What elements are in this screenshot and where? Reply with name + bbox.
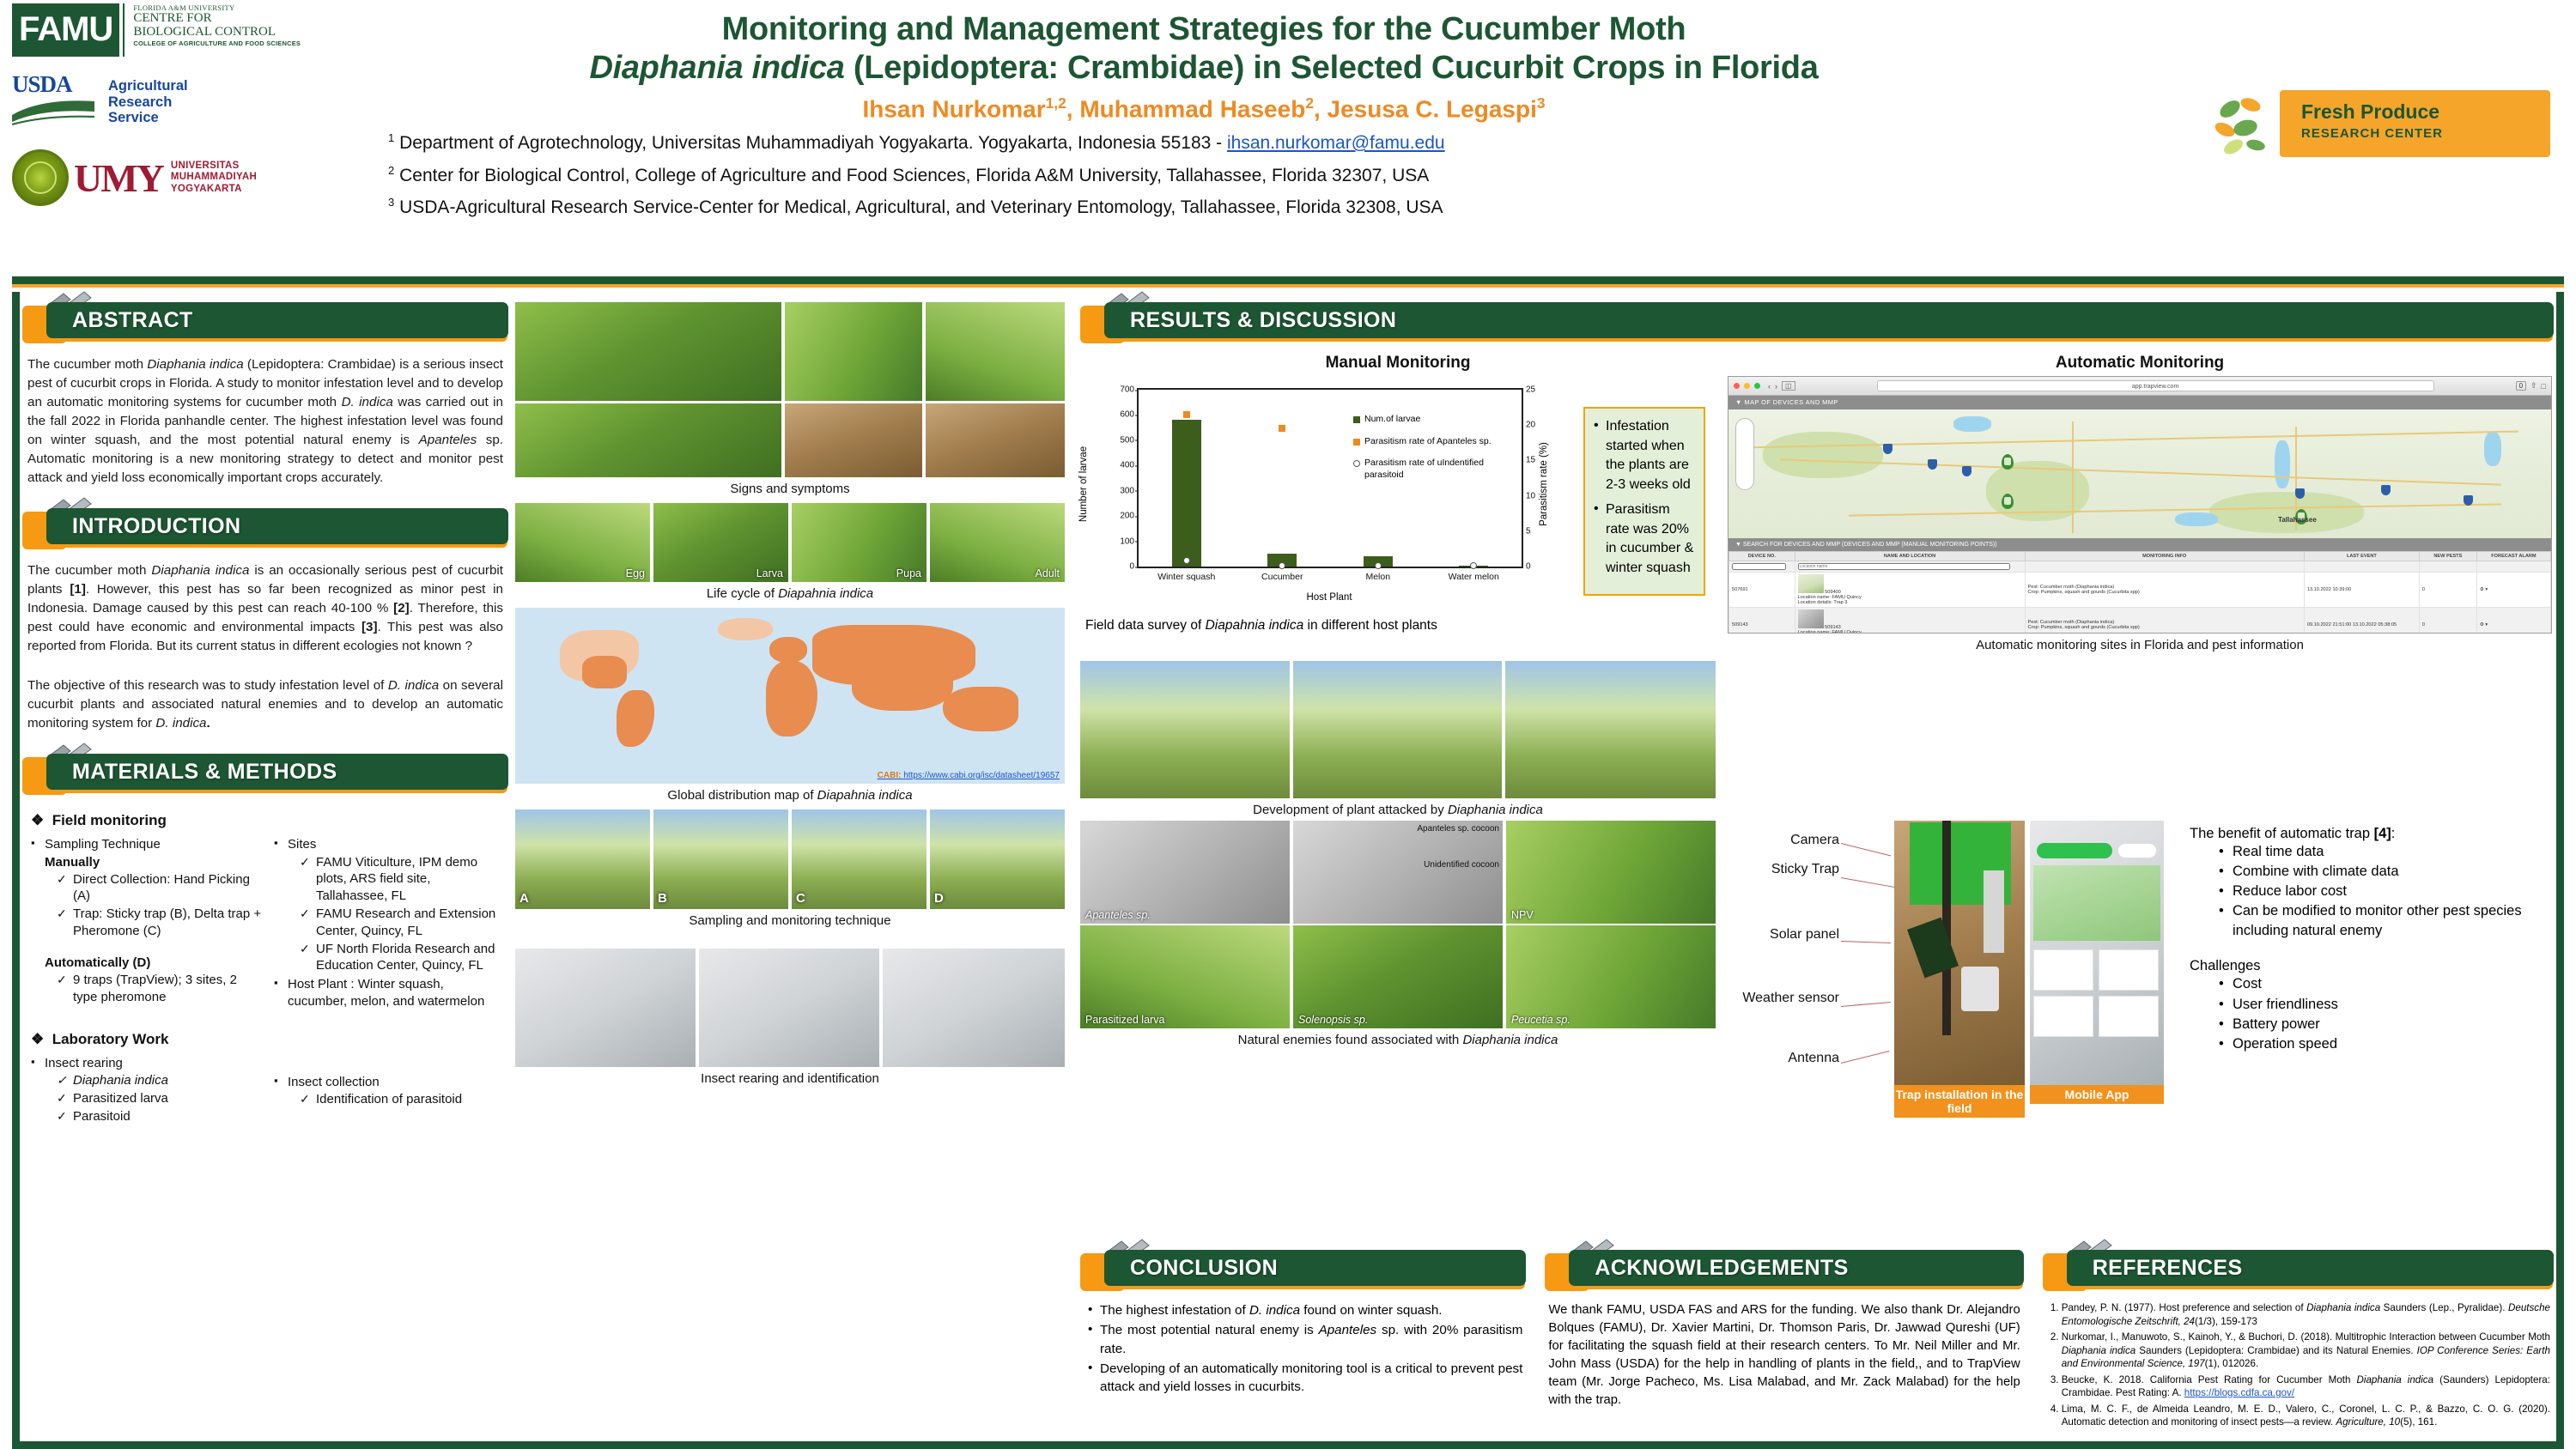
- photo-plant-damage-1: [515, 302, 781, 401]
- reference-3: Beucke, K. 2018. California Pest Rating …: [2062, 1373, 2550, 1400]
- map-section-label: MAP OF DEVICES AND MMP: [1744, 398, 1838, 406]
- reference-2: Nurkomar, I., Manuwoto, S., Kainoh, Y., …: [2062, 1331, 2550, 1371]
- famu-centre-line2: BIOLOGICAL CONTROL: [133, 26, 301, 39]
- y2tick-15: 15: [1522, 456, 1535, 465]
- map-pin-trap-1[interactable]: [2002, 454, 2014, 470]
- y2tick-25: 25: [1522, 385, 1535, 395]
- ytick-700: 700: [1120, 385, 1139, 395]
- minimize-icon[interactable]: [1744, 383, 1750, 389]
- abstract-bar: ABSTRACT: [46, 302, 508, 338]
- c1a: The most potential natural enemy is: [1100, 1323, 1319, 1337]
- signs-symptoms-photos-2: [515, 403, 1065, 477]
- device-thumbnail[interactable]: [1798, 609, 1824, 628]
- r1a: Pandey, P. N. (1977). Host preference an…: [2062, 1302, 2306, 1313]
- title-line-1: Monitoring and Management Strategies for…: [722, 11, 1686, 47]
- ytick-100: 100: [1120, 537, 1139, 546]
- challenge-0-label: Cost: [2233, 976, 2262, 991]
- photo-plant-damage-2: [785, 302, 922, 401]
- marker-unidentified-winter-squash: [1183, 557, 1190, 564]
- conclusion-body: The highest infestation of D. indica fou…: [1080, 1296, 1526, 1396]
- map-section-header: ▼ MAP OF DEVICES AND MMP: [1728, 396, 2551, 409]
- note-item-1: Parasitism rate was 20% in cucumber & wi…: [1592, 500, 1697, 579]
- c0b: found on winter squash.: [1300, 1303, 1442, 1318]
- benefits-title-a: The benefit of automatic trap: [2190, 826, 2374, 841]
- trap-label-antenna: Antenna: [1729, 1051, 1839, 1067]
- usda-mark: USDA: [12, 73, 98, 131]
- usda-abbr: USDA: [12, 73, 98, 96]
- acknowledgements-title: ACKNOWLEDGEMENTS: [1569, 1250, 2023, 1286]
- manual-item-0: Direct Collection: Hand Picking (A): [57, 871, 262, 906]
- cell-settings[interactable]: ⚙ ▾: [2476, 608, 2550, 634]
- intro2-t1: The objective of this research was to st…: [27, 678, 388, 693]
- intro2-t3: .: [207, 716, 210, 731]
- cell-crop: Crop: Pumpkins, squash and gourds (Cucur…: [2028, 590, 2140, 595]
- sampling-photos: A B C D: [515, 809, 1065, 909]
- abstract-sp2: D. indica: [342, 395, 393, 409]
- label-solenopsis: Solenopsis sp.: [1298, 1014, 1368, 1026]
- location-filter-input[interactable]: [1798, 563, 2011, 570]
- legend-swatch-unidentified: [1353, 460, 1360, 467]
- legend-label-larvae: Num.of larvae: [1364, 414, 1420, 426]
- map-source-prefix: CABI:: [878, 771, 904, 780]
- label-egg: Egg: [626, 567, 645, 579]
- cell-loc-det: Location details: Trap 3: [1798, 600, 1848, 605]
- umy-logo: UMY UNIVERSITAS MUHAMMADIYAH YOGYAKARTA: [12, 146, 373, 209]
- sampling-technique-item: Sampling Technique Manually Direct Colle…: [31, 836, 262, 1005]
- cell-last-event: 09.10.2022 21:51:00 13.10.2022 05:38:05: [2304, 608, 2419, 634]
- xlabel-winter-squash: Winter squash: [1157, 572, 1215, 582]
- xlabel-water-melon: Water melon: [1449, 572, 1499, 582]
- downloads-icon[interactable]: 0: [2516, 381, 2526, 391]
- introduction-section-header: INTRODUCTION: [22, 508, 508, 549]
- famu-wordmark: FLORIDA A&M UNIVERSITY CENTRE FOR BIOLOG…: [123, 3, 301, 57]
- rearing-photos: [515, 949, 1065, 1067]
- site-2: UF North Florida Research and Education …: [300, 941, 505, 975]
- usda-ars-l3: Service: [108, 110, 188, 125]
- photo-fruit-damage-2: [926, 403, 1065, 477]
- usda-ars-text: Agricultural Research Service: [108, 78, 188, 125]
- photo-identification-microscope: [883, 949, 1065, 1067]
- chart-legend: Num.of larvae Parasitism rate of Apantel…: [1353, 414, 1522, 492]
- legend-label-apanteles: Parasitism rate of Apanteles sp.: [1364, 436, 1492, 448]
- cell-settings[interactable]: ⚙ ▾: [2476, 573, 2550, 608]
- usda-ars-l1: Agricultural: [108, 78, 188, 94]
- sites-item: Sites FAMU Viticulture, IPM demo plots, …: [274, 836, 505, 974]
- umy-wordmark: UNIVERSITAS MUHAMMADIYAH YOGYAKARTA: [171, 161, 257, 195]
- famu-centre-line1: CENTRE FOR: [133, 12, 301, 26]
- host-plant-item: Host Plant : Winter squash, cucumber, me…: [274, 976, 505, 1010]
- th-monitoring-info: MONITORING INFO: [2025, 552, 2304, 561]
- challenges-title: Challenges: [2190, 958, 2550, 974]
- chart-y2-axis-title: Parasitism rate (%): [1539, 442, 1549, 526]
- photo-mobile-app: [2030, 821, 2164, 1085]
- usda-logo: USDA Agricultural Research Service: [12, 70, 373, 134]
- marker-apanteles-winter-squash: [1183, 411, 1190, 418]
- enemies-row-2: Parasitized larva Solenopsis sp. Peuceti…: [1080, 925, 1716, 1028]
- materials-col-left: Sampling Technique Manually Direct Colle…: [31, 836, 262, 1012]
- reference-1: Pandey, P. N. (1977). Host preference an…: [2062, 1301, 2550, 1328]
- leaf-cluster-icon: [2211, 92, 2280, 159]
- close-icon[interactable]: [1734, 383, 1740, 389]
- insect-collection-item: Insect collection Identification of para…: [274, 1074, 505, 1108]
- caption-enemies: Natural enemies found associated with Di…: [1080, 1028, 1716, 1054]
- back-icon[interactable]: ‹: [1768, 382, 1771, 391]
- tabs-icon[interactable]: □: [2542, 382, 2546, 391]
- references-title: REFERENCES: [2067, 1250, 2554, 1286]
- photo-leaf-damage: [515, 403, 781, 477]
- chart-y-axis-title: Number of larvae: [1078, 446, 1089, 522]
- laboratory-work-label: Laboratory Work: [52, 1031, 169, 1047]
- benefits-title: The benefit of automatic trap [4]:: [2190, 826, 2550, 842]
- benefit-3-label: Can be modified to monitor other pest sp…: [2233, 903, 2522, 938]
- forward-icon[interactable]: ›: [1775, 382, 1777, 391]
- benefit-1: •Combine with climate data: [2219, 862, 2550, 882]
- introduction-bar: INTRODUCTION: [46, 508, 508, 544]
- caption-dev-sp: Diaphania indica: [1448, 803, 1543, 817]
- challenge-3: •Operation speed: [2219, 1034, 2550, 1054]
- photo-auto-trap: D: [930, 809, 1065, 909]
- legend-entry-apanteles: Parasitism rate of Apanteles sp.: [1353, 436, 1522, 448]
- devices-table-body: 507691 509400 Location name: FAMU Quincy…: [1729, 573, 2551, 634]
- r1sp1: Diaphania indica: [2306, 1302, 2380, 1313]
- famu-logo: FAMU FLORIDA A&M UNIVERSITY CENTRE FOR B…: [12, 3, 373, 57]
- field-monitoring-heading: ❖ Field monitoring: [31, 812, 505, 829]
- c2a: Developing of an automatically monitorin…: [1100, 1361, 1522, 1394]
- acknowledgements-bar: ACKNOWLEDGEMENTS: [1569, 1250, 2023, 1286]
- devices-table: DEVICE NO. NAME AND LOCATION MONITORING …: [1728, 551, 2551, 634]
- chart-caption-sp: Diapahnia indica: [1206, 618, 1304, 633]
- umy-seal-icon: [12, 149, 69, 206]
- intro-ref3: [3]: [361, 620, 378, 634]
- header-divider-green: [12, 276, 2564, 284]
- famu-college-line: COLLEGE OF AGRICULTURE AND FOOD SCIENCES: [133, 39, 301, 47]
- label-apanteles: Apanteles sp.: [1085, 909, 1151, 921]
- challenge-1: •User friendliness: [2219, 995, 2550, 1015]
- conclusion-bar: CONCLUSION: [1104, 1250, 1526, 1286]
- famu-abbr: FAMU: [12, 3, 119, 57]
- results-section-header: RESULTS & DISCUSSION: [1080, 302, 2554, 343]
- natural-enemies-block: Apanteles sp. Apanteles sp. cocoon Unide…: [1080, 821, 1716, 1121]
- materials-title: MATERIALS & METHODS: [46, 754, 508, 790]
- legend-entry-larvae: Num.of larvae: [1353, 414, 1522, 426]
- share-icon[interactable]: ⇧: [2530, 381, 2537, 391]
- r2sp1: Diaphania indica: [2062, 1345, 2136, 1356]
- table-section-label: SEARCH FOR DEVICES AND MMP (DEVICES AND …: [1743, 542, 1997, 548]
- lab-col-left: Insect rearing Diaphania indica Parasiti…: [31, 1055, 262, 1126]
- tag-d: D: [934, 891, 944, 906]
- photo-solenopsis: Solenopsis sp.: [1293, 925, 1503, 1028]
- th-new-pests: NEW PESTS: [2419, 552, 2476, 561]
- ytick-200: 200: [1120, 512, 1139, 521]
- header-divider-orange: [12, 284, 2564, 288]
- r4a: Lima, M. C. F., de Almeida Leandro, M. E…: [2062, 1404, 2550, 1428]
- label-npv: NPV: [1511, 909, 1534, 921]
- th-name-location: NAME AND LOCATION: [1795, 552, 2025, 561]
- map-source-link[interactable]: CABI: https://www.cabi.org/isc/datasheet…: [878, 771, 1060, 780]
- table-row[interactable]: 507691 509400 Location name: FAMU Quincy…: [1729, 573, 2551, 608]
- r2a: Nurkomar, I., Manuwoto, S., Kainoh, Y., …: [2062, 1331, 2550, 1343]
- challenge-2: •Battery power: [2219, 1015, 2550, 1034]
- abstract-t1: The cucumber moth: [27, 357, 147, 372]
- th-device-no: DEVICE NO.: [1729, 552, 1795, 561]
- photo-pupa: Pupa: [792, 503, 927, 582]
- intro-sp1: Diaphania indica: [151, 563, 249, 578]
- benefit-1-label: Combine with climate data: [2233, 864, 2399, 879]
- device-map[interactable]: Tallahassee: [1728, 409, 2551, 538]
- label-parasitized-larva: Parasitized larva: [1085, 1014, 1164, 1026]
- cell-last-event: 13.10.2022 10:39:00: [2304, 573, 2419, 608]
- insect-collection-label: Insect collection: [288, 1075, 380, 1089]
- label-adult: Adult: [1036, 567, 1060, 579]
- usda-swoosh-icon: [12, 98, 94, 127]
- ytick-0: 0: [1129, 562, 1139, 572]
- benefits-block: The benefit of automatic trap [4]: •Real…: [2190, 821, 2550, 1121]
- table-row[interactable]: 509143 509143 Location name: FAMU Quincy…: [1729, 608, 2551, 634]
- manual-item-1: Trap: Sticky trap (B), Delta trap + Pher…: [57, 906, 262, 940]
- browser-toolbar: ‹ › ◫ app.trapview.com 0 ⇧ □: [1728, 377, 2551, 396]
- challenge-1-label: User friendliness: [2233, 997, 2338, 1012]
- maximize-icon[interactable]: [1754, 383, 1760, 389]
- photo-larva: Larva: [653, 503, 788, 582]
- r2c: (1), 012026.: [2205, 1358, 2259, 1369]
- umy-s2: MUHAMMADIYAH: [171, 172, 257, 183]
- lab-col-right: Insect collection Identification of para…: [274, 1055, 505, 1126]
- global-distribution-map: CABI: https://www.cabi.org/isc/datasheet…: [515, 608, 1065, 784]
- label-pupa: Pupa: [896, 567, 921, 579]
- column-left: ABSTRACT The cucumber moth Diaphania ind…: [22, 302, 508, 1127]
- cell-name-location: 509143 Location name: FAMU Quincy Locati…: [1795, 608, 2025, 634]
- y2tick-10: 10: [1522, 491, 1535, 500]
- automatic-monitoring-heading: Automatic Monitoring: [1728, 349, 2552, 376]
- author-email-link[interactable]: ihsan.nurkomar@famu.edu: [1227, 133, 1445, 153]
- caption-auto-sites: Automatic monitoring sites in Florida an…: [1728, 634, 2552, 659]
- y2tick-0: 0: [1522, 562, 1531, 572]
- tag-a: A: [519, 891, 529, 906]
- r3a: Beucke, K. 2018. California Pest Rating …: [2062, 1374, 2357, 1385]
- conclusion-block: CONCLUSION The highest infestation of D.…: [1080, 1250, 1526, 1432]
- caption-map-a: Global distribution map of: [667, 788, 817, 803]
- manual-monitoring-chart: Number of larvae Parasitism rate (%) Hos…: [1080, 376, 1561, 616]
- chart-plot-area: 0 100 200 300 400 500 600 700 0 5 10 15 …: [1137, 388, 1523, 568]
- cell-crop: Crop: Pumpkins, squash and gourds (Cucur…: [2028, 625, 2140, 630]
- usda-ars-l2: Research: [108, 94, 188, 110]
- laboratory-work-heading: ❖ Laboratory Work: [31, 1031, 505, 1048]
- manually-label: Manually: [45, 855, 100, 870]
- tag-b: B: [658, 891, 667, 906]
- caption-signs-symptoms: Signs and symptoms: [515, 477, 1065, 503]
- ytick-400: 400: [1120, 461, 1139, 470]
- cell-monitoring-info: Pest: Cucumber moth (Diaphania indica) C…: [2025, 608, 2304, 634]
- site-0: FAMU Viticulture, IPM demo plots, ARS fi…: [300, 854, 505, 905]
- logo-group: FAMU FLORIDA A&M UNIVERSITY CENTRE FOR B…: [12, 3, 373, 209]
- introduction-body-p1: The cucumber moth Diaphania indica is an…: [22, 555, 508, 656]
- marker-unidentified-melon: [1375, 562, 1382, 569]
- photo-peucetia: Peucetia sp.: [1506, 925, 1716, 1028]
- ytick-600: 600: [1120, 410, 1139, 420]
- r4c: (5), 161.: [2400, 1416, 2437, 1428]
- caption-rearing: Insect rearing and identification: [515, 1067, 1065, 1093]
- title-species: Diaphania indica: [589, 50, 844, 86]
- photo-npv: NPV: [1506, 821, 1716, 924]
- challenge-2-label: Battery power: [2233, 1016, 2320, 1032]
- benefits-title-ref: [4]: [2374, 826, 2391, 841]
- photo-apanteles: Apanteles sp.: [1080, 821, 1290, 924]
- intro-t1: The cucumber moth: [27, 563, 151, 578]
- note-item-0: Infestation started when the plants are …: [1592, 417, 1697, 495]
- caption-trap-installation: Trap installation in the field: [1894, 1085, 2025, 1118]
- chart-caption-b: in different host plants: [1303, 618, 1437, 633]
- enemies-row-1: Apanteles sp. Apanteles sp. cocoon Unide…: [1080, 821, 1716, 924]
- conclusion-item-2: Developing of an automatically monitorin…: [1085, 1360, 1522, 1397]
- fresh-produce-logo: Fresh Produce RESEARCH CENTER: [2207, 90, 2550, 159]
- cell-new-pests: 0: [2419, 608, 2476, 634]
- rearing-item-2: Parasitoid: [57, 1108, 262, 1125]
- caption-lifecycle-sp: Diapahnia indica: [778, 586, 873, 601]
- caption-lifecycle-a: Life cycle of: [707, 586, 778, 601]
- fresh-produce-title: Fresh Produce: [2301, 100, 2439, 124]
- materials-body: ❖ Field monitoring Sampling Technique Ma…: [22, 800, 508, 1126]
- umy-s3: YOGYAKARTA: [171, 184, 257, 195]
- bar-winter-squash: [1172, 420, 1201, 567]
- device-thumbnail[interactable]: [1798, 574, 1824, 593]
- affiliation-2: 2 Center for Biological Control, College…: [388, 163, 2020, 188]
- legend-swatch-apanteles: [1353, 439, 1360, 446]
- photo-development-2: [1293, 661, 1503, 798]
- legend-swatch-larvae: [1353, 416, 1360, 423]
- conclusion-item-0: The highest infestation of D. indica fou…: [1085, 1301, 1522, 1319]
- references-bar: REFERENCES: [2067, 1250, 2554, 1286]
- table-section-header: ▼ SEARCH FOR DEVICES AND MMP (DEVICES AN…: [1728, 538, 2551, 551]
- photo-cocoons: Apanteles sp. cocoon Unidentified cocoon: [1293, 821, 1503, 924]
- xlabel-cucumber: Cucumber: [1261, 572, 1303, 582]
- materials-section-header: MATERIALS & METHODS: [22, 754, 508, 795]
- y2tick-20: 20: [1522, 421, 1535, 430]
- trap-label-solar-panel: Solar panel: [1729, 927, 1839, 943]
- acknowledgements-block: ACKNOWLEDGEMENTS We thank FAMU, USDA FAS…: [1545, 1250, 2023, 1432]
- photo-development-1: [1080, 661, 1290, 798]
- umy-s1: UNIVERSITAS: [171, 161, 257, 172]
- abstract-title: ABSTRACT: [46, 302, 508, 338]
- map-pin-trap-2[interactable]: [2002, 494, 2014, 509]
- benefit-2-label: Reduce labor cost: [2233, 883, 2347, 899]
- column-photos: Signs and symptoms Egg Larva Pupa Adult …: [515, 302, 1065, 1093]
- caption-mobile-app: Mobile App: [2030, 1085, 2164, 1104]
- benefit-0: •Real time data: [2219, 842, 2550, 862]
- caption-enemies-sp: Diaphania indica: [1462, 1033, 1558, 1047]
- chart-caption: Field data survey of Diapahnia indica in…: [1080, 618, 1716, 634]
- caption-dev-a: Development of plant attacked by: [1253, 803, 1448, 817]
- benefits-title-b: :: [2391, 826, 2396, 841]
- insect-rearing-label: Insect rearing: [45, 1056, 123, 1070]
- bottom-row: CONCLUSION The highest infestation of D.…: [1080, 1250, 2554, 1432]
- benefit-2: •Reduce labor cost: [2219, 882, 2550, 901]
- fresh-produce-subtitle: RESEARCH CENTER: [2301, 126, 2443, 141]
- caption-lifecycle: Life cycle of Diapahnia indica: [515, 582, 1065, 608]
- c1sp: Apanteles: [1319, 1323, 1377, 1337]
- sidebar-icon[interactable]: ◫: [1782, 381, 1795, 391]
- cell-device-no: 509143: [1729, 608, 1795, 634]
- abstract-body: The cucumber moth Diaphania indica (Lepi…: [22, 349, 508, 488]
- auto-item-0: 9 traps (TrapView); 3 sites, 2 type pher…: [57, 972, 262, 1006]
- photo-delta-trap: C: [792, 809, 927, 909]
- cell-name-location: 509400 Location name: FAMU Quincy Locati…: [1795, 573, 2025, 608]
- map-source-url: https://www.cabi.org/isc/datasheet/19657: [903, 771, 1060, 780]
- insect-rearing-item: Insect rearing Diaphania indica Parasiti…: [31, 1055, 262, 1125]
- reference-4: Lima, M. C. F., de Almeida Leandro, M. E…: [2062, 1403, 2550, 1429]
- trap-label-camera: Camera: [1729, 833, 1839, 849]
- poster-header: FAMU FLORIDA A&M UNIVERSITY CENTRE FOR B…: [0, 0, 2576, 283]
- signs-symptoms-photos: [515, 302, 1065, 401]
- benefit-3: •Can be modified to monitor other pest s…: [2219, 901, 2550, 941]
- map-zoom-controls[interactable]: [1735, 418, 1754, 490]
- conclusion-item-1: The most potential natural enemy is Apan…: [1085, 1321, 1522, 1358]
- tag-c: C: [796, 891, 805, 906]
- xlabel-melon: Melon: [1365, 572, 1390, 582]
- photo-rearing-cage-1: [515, 949, 696, 1067]
- lifecycle-photos: Egg Larva Pupa Adult: [515, 503, 1065, 582]
- r1b: Saunders (Lep., Pyralidae).: [2380, 1302, 2508, 1313]
- photo-parasitized-larva: Parasitized larva: [1080, 925, 1290, 1028]
- intro-ref1: [1]: [70, 582, 86, 597]
- label-unidentified-cocoon: Unidentified cocoon: [1424, 860, 1499, 870]
- intro-ref2: [2]: [393, 601, 410, 615]
- table-header-row: DEVICE NO. NAME AND LOCATION MONITORING …: [1729, 552, 2551, 561]
- intro2-sp2: D. indica: [155, 716, 206, 731]
- th-last-event: LAST EVENT: [2304, 552, 2419, 561]
- marker-unidentified-cucumber: [1279, 562, 1285, 569]
- r3sp1: Diaphania indica: [2357, 1374, 2434, 1385]
- author-list: Ihsan Nurkomar1,2, Muhammad Haseeb2, Jes…: [388, 94, 2020, 123]
- introduction-body-p2: The objective of this research was to st…: [22, 670, 508, 733]
- abstract-section-header: ABSTRACT: [22, 302, 508, 343]
- c0a: The highest infestation of: [1100, 1303, 1249, 1318]
- legend-label-unidentified: Parasitism rate of uIndentified parasito…: [1364, 458, 1522, 481]
- device-filter-input[interactable]: [1732, 563, 1786, 570]
- photo-sticky-trap: B: [653, 809, 788, 909]
- sites-label: Sites: [288, 837, 316, 852]
- label-apanteles-cocoon: Apanteles sp. cocoon: [1417, 824, 1499, 834]
- challenge-3-label: Operation speed: [2233, 1036, 2337, 1052]
- affiliation-1: 1 Department of Agrotechnology, Universi…: [388, 130, 2020, 155]
- umy-abbr: UMY: [74, 155, 163, 201]
- intro2-sp1: D. indica: [388, 678, 439, 693]
- caption-map-sp: Diapahnia indica: [817, 788, 913, 803]
- acknowledgements-body: We thank FAMU, USDA FAS and ARS for the …: [1545, 1296, 2023, 1410]
- affil-2-text: Center for Biological Control, College o…: [399, 166, 1429, 185]
- manual-monitoring-heading: Manual Monitoring: [1080, 349, 1716, 376]
- reference-3-link[interactable]: https://blogs.cdfa.ca.gov/: [2184, 1387, 2294, 1398]
- photo-egg: Egg: [515, 503, 650, 582]
- introduction-title: INTRODUCTION: [46, 508, 508, 544]
- column-results: RESULTS & DISCUSSION Manual Monitoring N…: [1080, 302, 2554, 1121]
- photo-fruit-damage-1: [785, 403, 922, 477]
- trap-diagram: Camera Sticky Trap Solar panel Weather s…: [1729, 821, 2176, 1121]
- affil-1-text: Department of Agrotechnology, Universita…: [399, 133, 1227, 153]
- references-block: REFERENCES Pandey, P. N. (1977). Host pr…: [2043, 1250, 2554, 1432]
- materials-bar: MATERIALS & METHODS: [46, 754, 508, 790]
- sampling-technique-label: Sampling Technique: [45, 837, 161, 852]
- photo-adult: Adult: [930, 503, 1065, 582]
- acknowledgements-section-header: ACKNOWLEDGEMENTS: [1545, 1250, 2023, 1291]
- caption-enemies-a: Natural enemies found associated with: [1238, 1033, 1463, 1047]
- caption-sampling: Sampling and monitoring technique: [515, 909, 1065, 935]
- trapview-browser-window[interactable]: ‹ › ◫ app.trapview.com 0 ⇧ □ ▼ MAP OF DE…: [1728, 376, 2552, 634]
- address-bar[interactable]: app.trapview.com: [1877, 380, 2434, 391]
- conclusion-title: CONCLUSION: [1104, 1250, 1526, 1286]
- cell-monitoring-info: Pest: Cucumber moth (Diaphania indica) C…: [2025, 573, 2304, 608]
- caption-global-map: Global distribution map of Diapahnia ind…: [515, 784, 1065, 809]
- table-filter-row[interactable]: [1729, 561, 2551, 573]
